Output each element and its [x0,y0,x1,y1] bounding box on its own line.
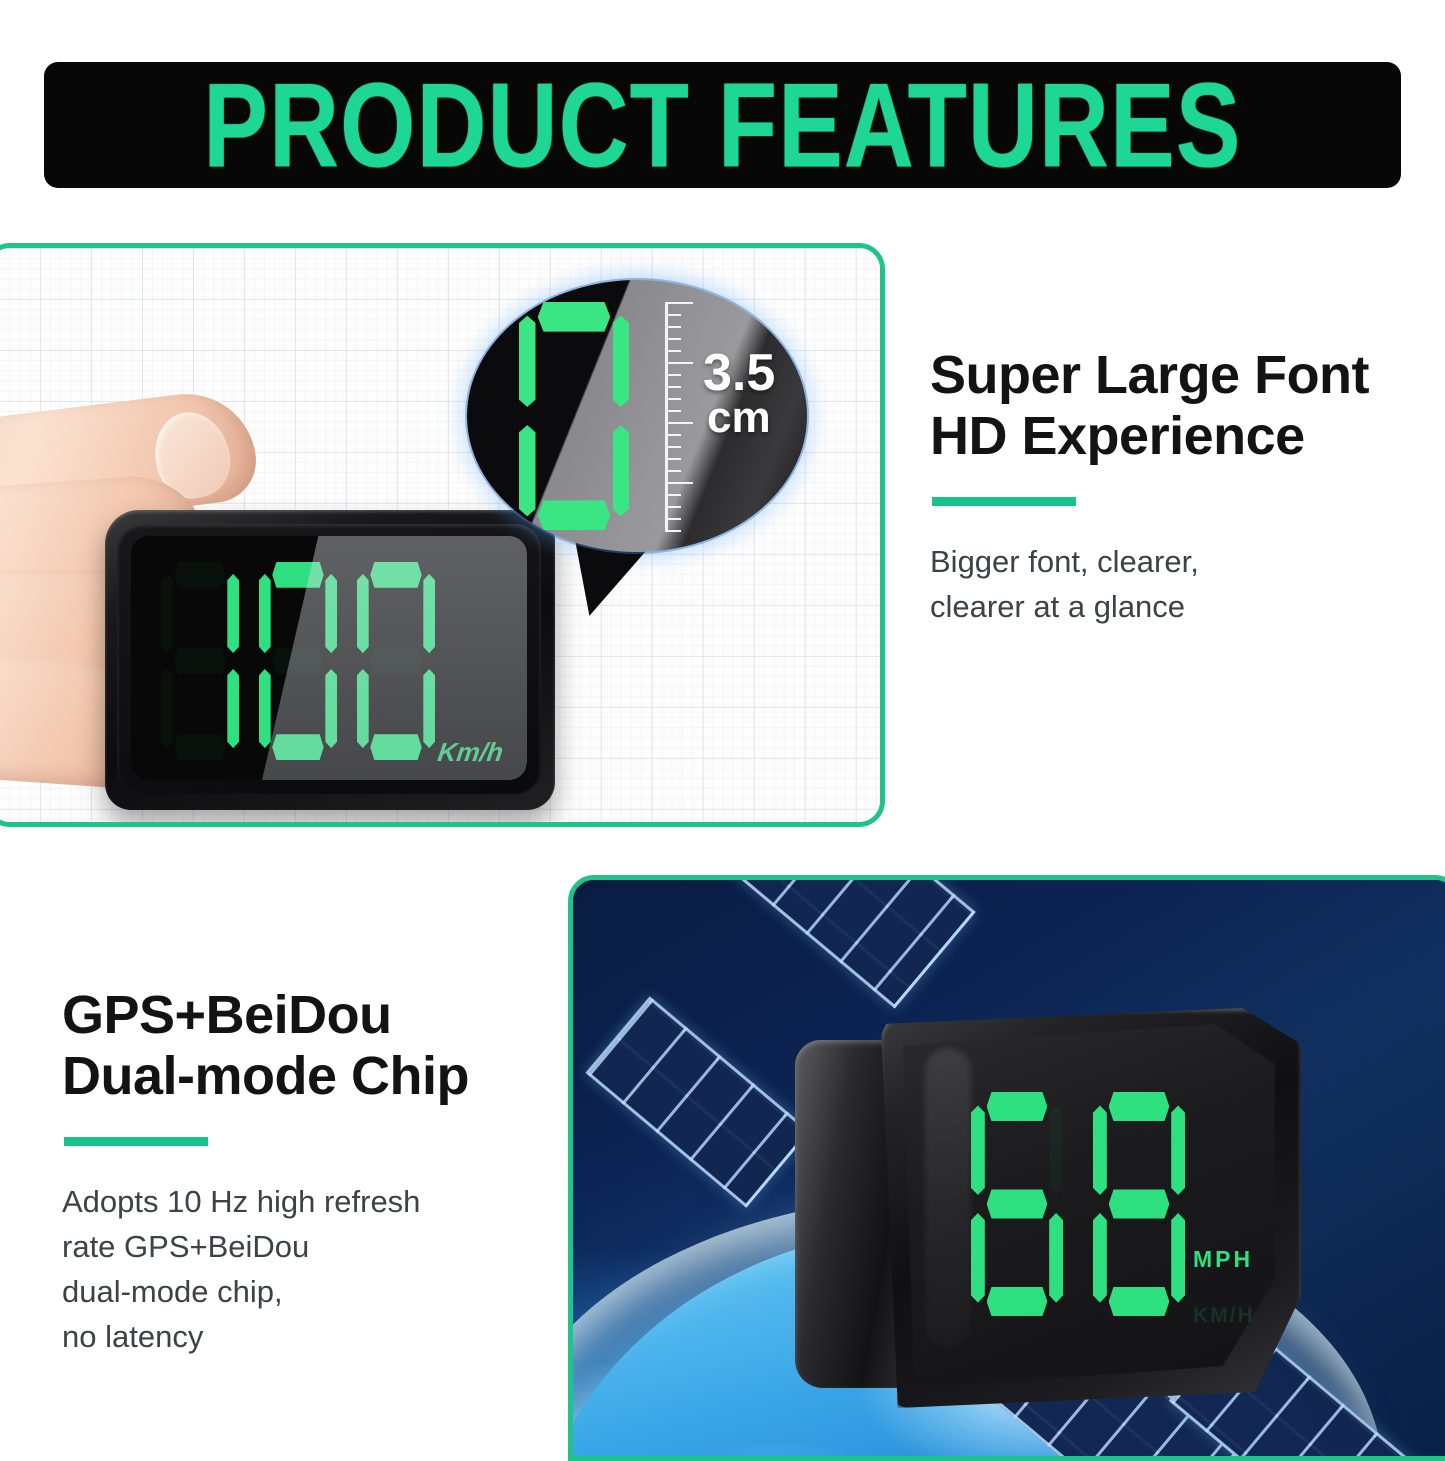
magnifier-callout: 3.5 cm [467,280,807,552]
hud-device-mph: MPH KM/H [795,1008,1315,1428]
ruler-tick [665,530,681,532]
speed-digits-mph [971,1092,1185,1316]
feature-body-line2: clearer at a glance [930,585,1420,630]
feature-title: GPS+BeiDou Dual-mode Chip [62,985,582,1107]
ruler-tick [665,314,681,316]
feature-body-line1: Adopts 10 Hz high refresh [62,1180,582,1225]
dimension-unit: cm [707,398,775,438]
seven-segment-digit [259,562,337,760]
ruler-tick [665,338,681,340]
ruler-tick [665,458,681,460]
ruler-tick [665,434,681,436]
seven-segment-digit [971,1092,1063,1316]
magnified-seven-segment-digit [519,302,629,530]
feature-body-line1: Bigger font, clearer, [930,540,1420,585]
ruler-tick [665,350,681,352]
page-title: PRODUCT FEATURES [203,62,1241,188]
ruler-tick [665,302,693,304]
header-banner: PRODUCT FEATURES [44,62,1401,188]
ruler-tick [665,506,681,508]
ruler-tick [665,386,681,388]
feature-title-line1: GPS+BeiDou [62,985,582,1046]
dimension-value: 3.5 [703,350,775,398]
device-screen: Km/h [131,536,527,780]
ruler-tick [665,326,681,328]
feature-title-line1: Super Large Font [930,345,1420,406]
ruler-tick [665,494,681,496]
feature-block-super-large-font: Super Large Font HD Experience Bigger fo… [930,345,1420,630]
speed-unit-label: Km/h [436,737,505,768]
seven-segment-digit [357,562,435,760]
ruler-tick [665,422,693,424]
ruler-tick [665,482,693,484]
ruler-scale-icon [665,302,701,530]
speed-unit-active-label: MPH [1193,1246,1253,1273]
ruler-tick [665,362,693,364]
product-photo-panel-space: MPH KM/H [568,875,1445,1461]
ruler-tick [665,446,681,448]
accent-divider [64,1137,208,1146]
feature-body-line3: dual-mode chip, [62,1270,582,1315]
feature-body-line2: rate GPS+BeiDou [62,1225,582,1270]
speed-unit-inactive-label: KM/H [1193,1304,1255,1328]
accent-divider [932,497,1076,506]
ruler-tick [665,518,681,520]
feature-title: Super Large Font HD Experience [930,345,1420,467]
seven-segment-digit [1093,1092,1185,1316]
callout-lens: 3.5 cm [467,280,807,552]
ruler-tick [665,398,681,400]
seven-segment-digit [161,562,239,760]
feature-body: Bigger font, clearer, clearer at a glanc… [930,540,1420,630]
dimension-label: 3.5 cm [703,350,775,438]
feature-body-line4: no latency [62,1315,582,1360]
feature-title-line2: HD Experience [930,406,1420,467]
feature-title-line2: Dual-mode Chip [62,1046,582,1107]
hud-device-kmh: Km/h [105,510,555,810]
feature-body: Adopts 10 Hz high refresh rate GPS+BeiDo… [62,1180,582,1360]
ruler-tick [665,410,681,412]
screen-glass-reflection [925,1048,971,1348]
feature-block-gps-beidou: GPS+BeiDou Dual-mode Chip Adopts 10 Hz h… [62,985,582,1360]
speed-digits-kmh [161,562,435,760]
ruler-tick [665,470,681,472]
product-photo-panel-hand: Km/h 3.5 cm [0,243,885,827]
ruler-tick [665,374,681,376]
